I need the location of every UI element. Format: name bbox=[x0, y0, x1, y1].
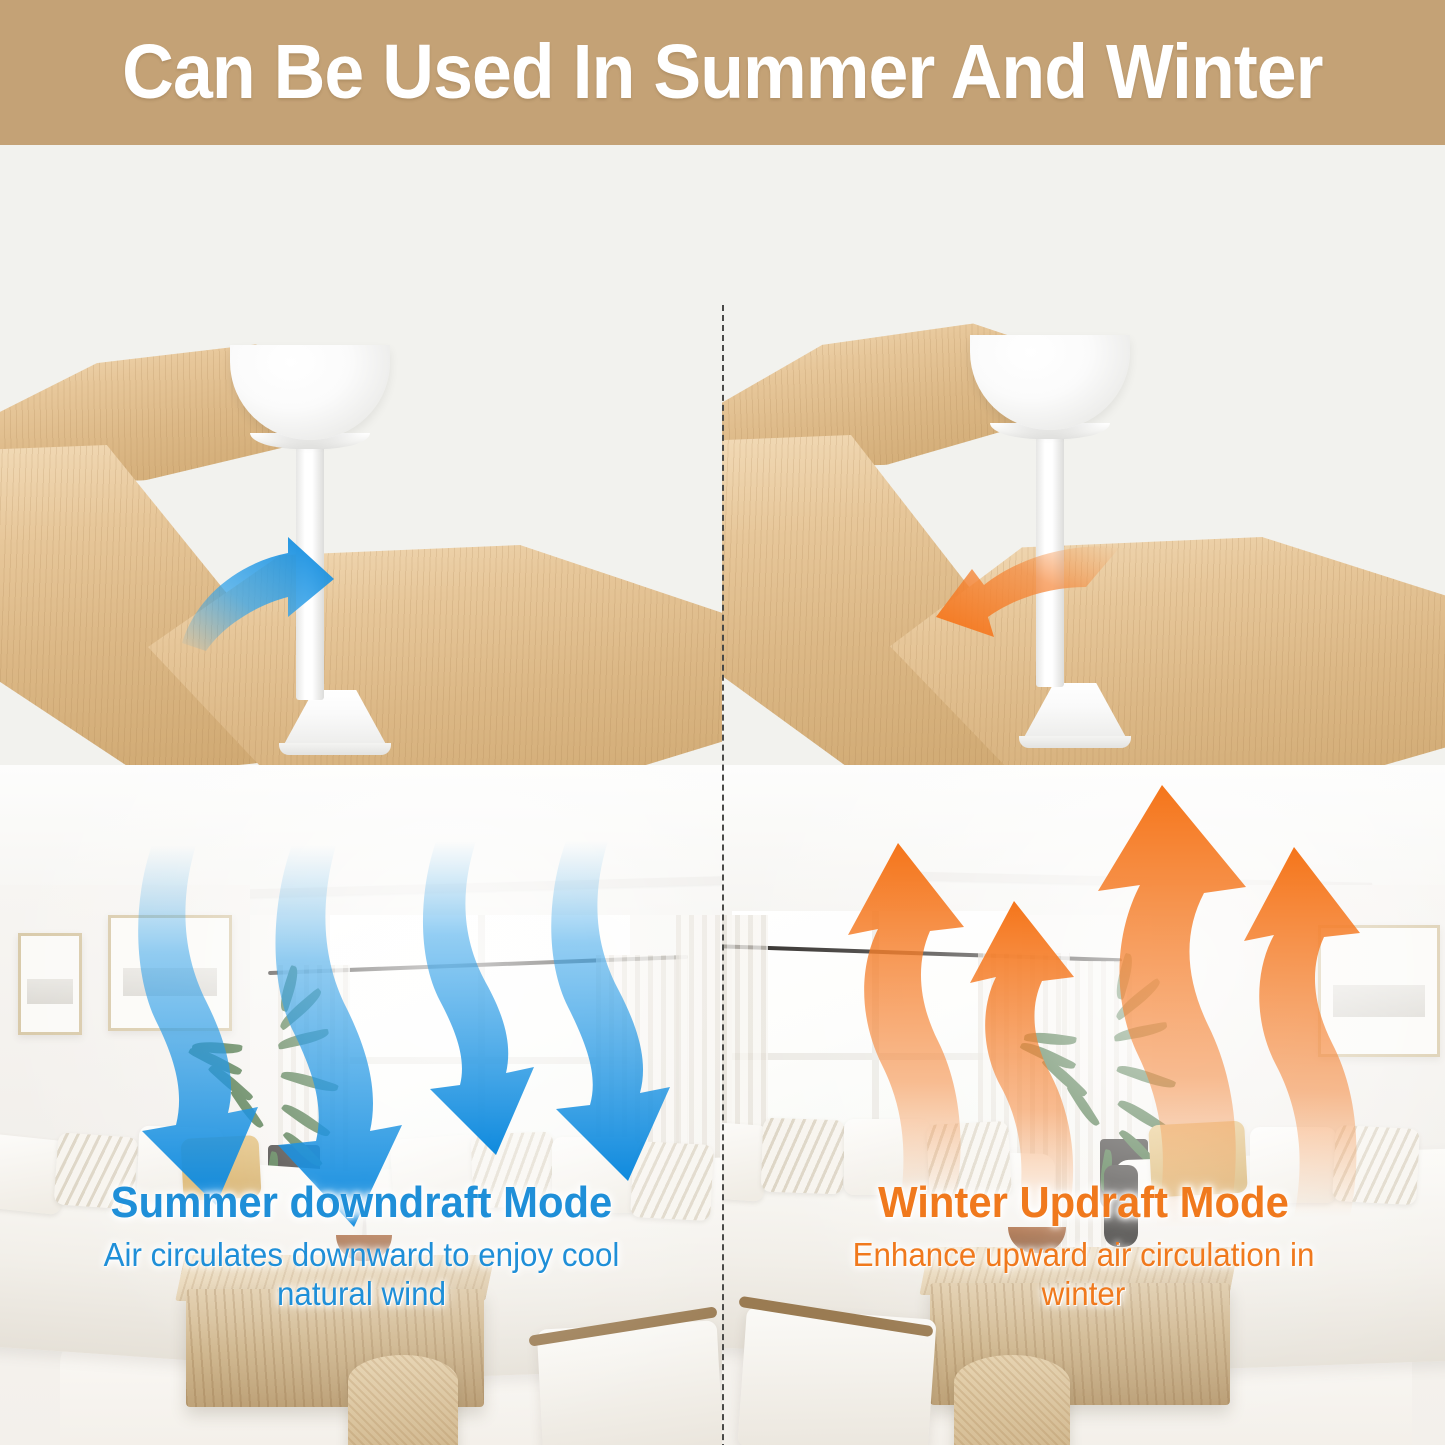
summer-caption: Summer downdraft Mode Air circulates dow… bbox=[0, 1180, 723, 1314]
summer-panel: Summer downdraft Mode Air circulates dow… bbox=[0, 145, 723, 1445]
winter-caption: Winter Updraft Mode Enhance upward air c… bbox=[722, 1180, 1445, 1314]
summer-mode-title: Summer downdraft Mode bbox=[18, 1180, 705, 1226]
wall-art-1 bbox=[18, 933, 82, 1035]
page-title: Can Be Used In Summer And Winter bbox=[122, 28, 1322, 117]
summer-mode-description: Air circulates downward to enjoy cool na… bbox=[18, 1236, 705, 1314]
winter-panel: Winter Updraft Mode Enhance upward air c… bbox=[722, 145, 1445, 1445]
header-banner: Can Be Used In Summer And Winter bbox=[0, 0, 1445, 145]
fan-downrod bbox=[296, 445, 324, 700]
summer-fan-scene bbox=[0, 145, 723, 845]
wall-art-2 bbox=[108, 915, 232, 1031]
winter-mode-title: Winter Updraft Mode bbox=[740, 1180, 1427, 1226]
fan-downrod-w bbox=[1036, 435, 1064, 687]
wall-art-w bbox=[1318, 925, 1440, 1057]
product-infographic: Can Be Used In Summer And Winter bbox=[0, 0, 1445, 1445]
fan-motor-base bbox=[279, 743, 391, 755]
ottoman bbox=[348, 1355, 458, 1445]
fan-motor-base-w bbox=[1019, 736, 1131, 748]
winter-fan-scene bbox=[722, 145, 1445, 845]
winter-mode-description: Enhance upward air circulation in winter bbox=[740, 1236, 1427, 1314]
summer-room-photo bbox=[0, 765, 723, 1445]
panel-divider bbox=[722, 305, 724, 1445]
ottoman-w bbox=[954, 1355, 1070, 1445]
winter-room-photo bbox=[722, 765, 1445, 1445]
comparison-panels: Summer downdraft Mode Air circulates dow… bbox=[0, 145, 1445, 1445]
